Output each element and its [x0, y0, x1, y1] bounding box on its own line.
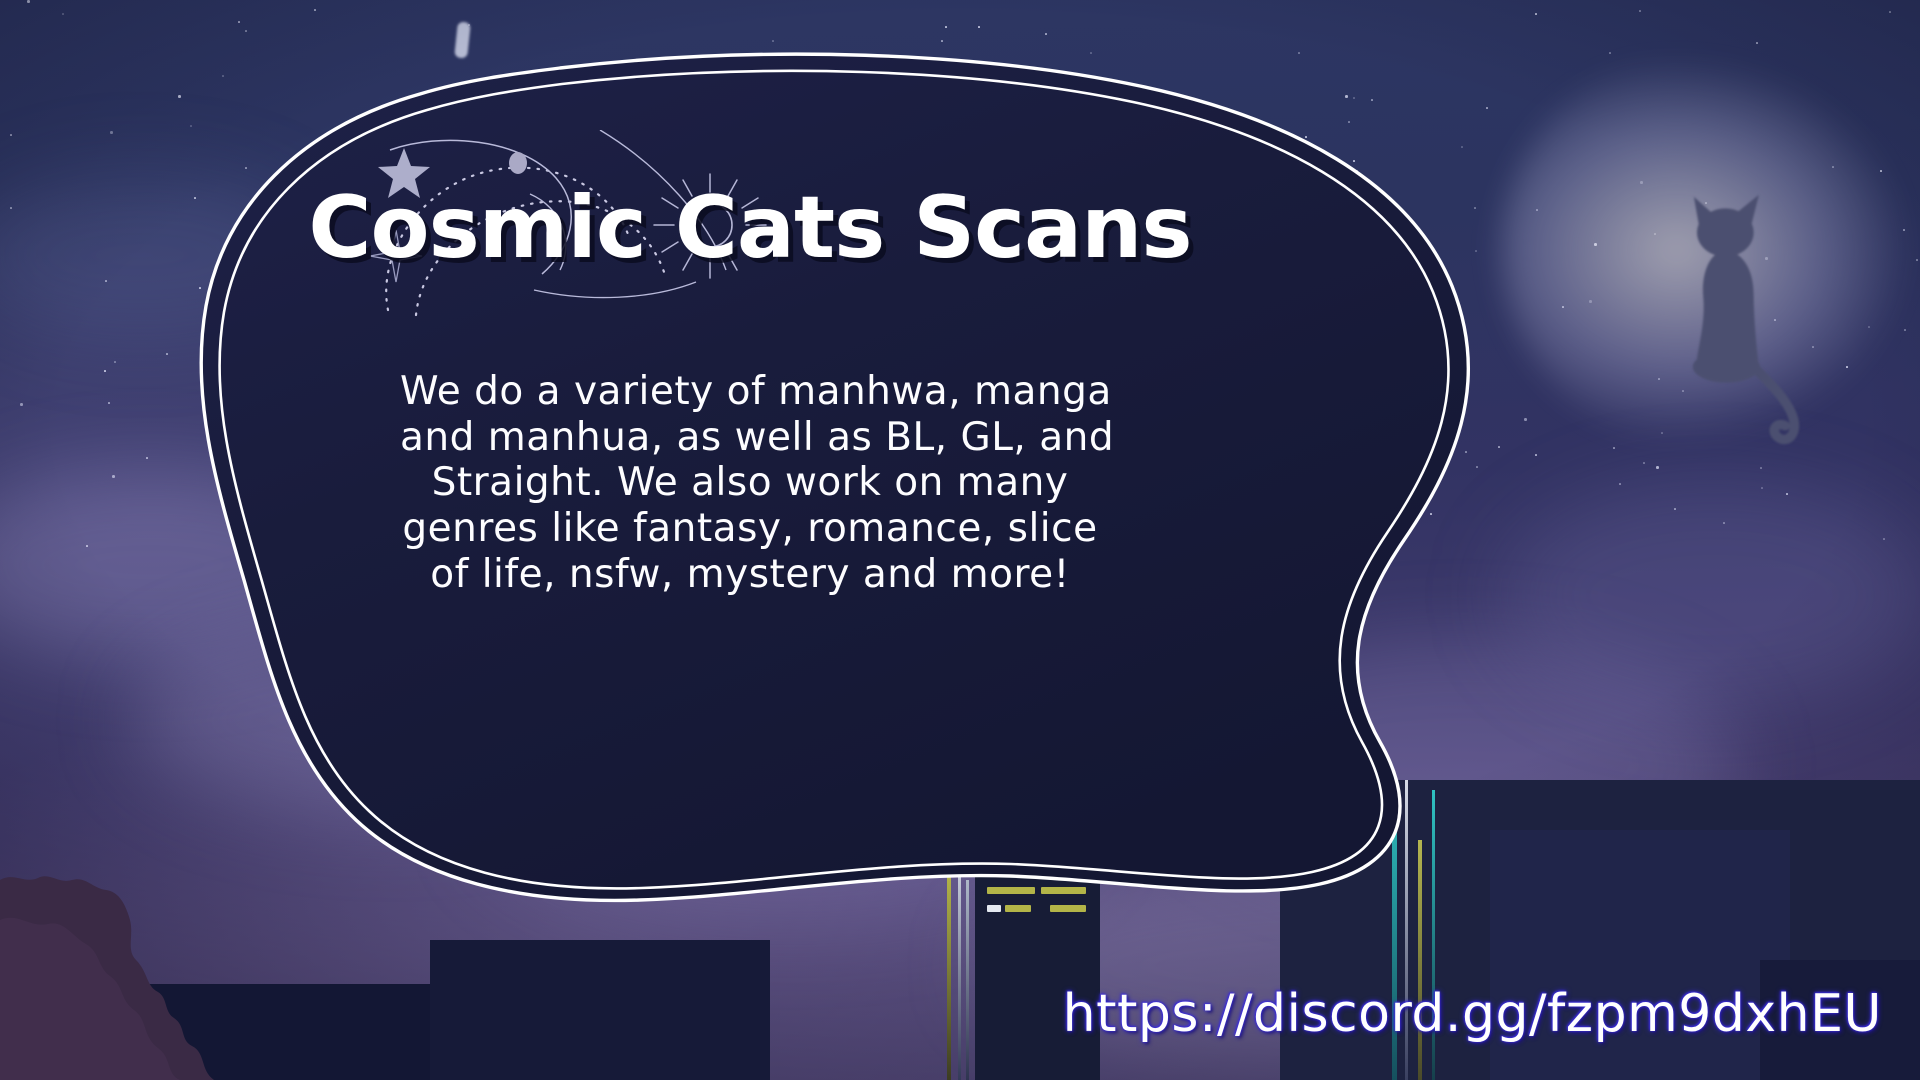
poster-canvas: Cosmic Cats Scans We do a variety of man…: [0, 0, 1920, 1080]
discord-invite-url[interactable]: https://discord.gg/fzpm9dxhEU: [1063, 984, 1882, 1044]
description-line: Straight. We also work on many: [400, 460, 1100, 506]
description-line: and manhua, as well as BL, GL, and: [400, 415, 1100, 461]
description-line: We do a variety of manhwa, manga: [400, 369, 1100, 415]
page-title: Cosmic Cats Scans: [300, 185, 1200, 271]
description-text: We do a variety of manhwa, manga and man…: [400, 369, 1100, 597]
description-line: of life, nsfw, mystery and more!: [400, 552, 1100, 598]
description-line: genres like fantasy, romance, slice: [400, 506, 1100, 552]
small-planet-icon: [509, 152, 527, 174]
poster-content: Cosmic Cats Scans We do a variety of man…: [300, 185, 1200, 597]
